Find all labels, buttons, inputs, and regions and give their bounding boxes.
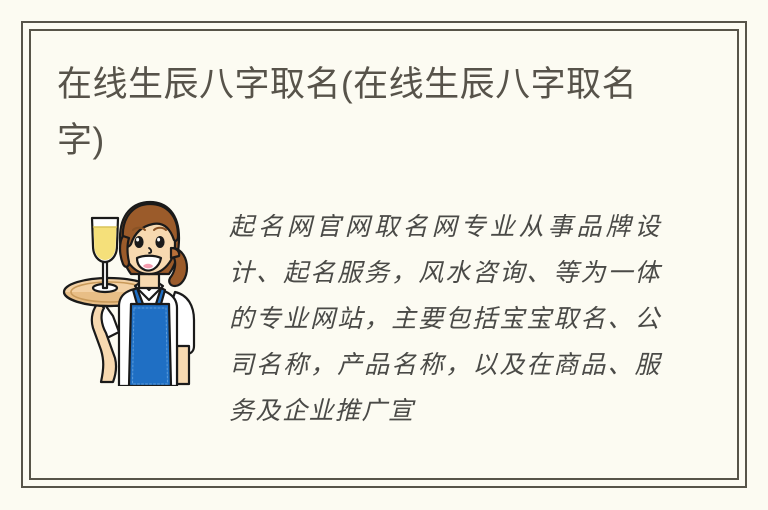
glass-stem [103,262,107,288]
page-canvas: 在线生辰八字取名(在线生辰八字取名字) [0,0,768,510]
left-eye [134,236,143,248]
article-body-text: 起名网官网取名网专业从事品牌设计、起名服务，风水咨询、等为一体的专业网站，主要包… [229,204,661,434]
page-title: 在线生辰八字取名(在线生辰八字取名字) [57,57,677,169]
left-eye-highlight [136,238,139,242]
wine-liquid [94,227,117,260]
article-content: 起名网官网取名网专业从事品牌设计、起名服务，风水咨询、等为一体的专业网站，主要包… [57,196,657,446]
hair-tie [171,248,179,258]
right-eye [155,236,164,248]
right-arm [177,346,189,384]
right-eye-highlight [157,238,160,242]
hair-side-left [120,236,129,267]
waitress-with-tray-illustration [57,196,207,386]
neck [139,274,159,288]
apron-body [129,304,171,386]
